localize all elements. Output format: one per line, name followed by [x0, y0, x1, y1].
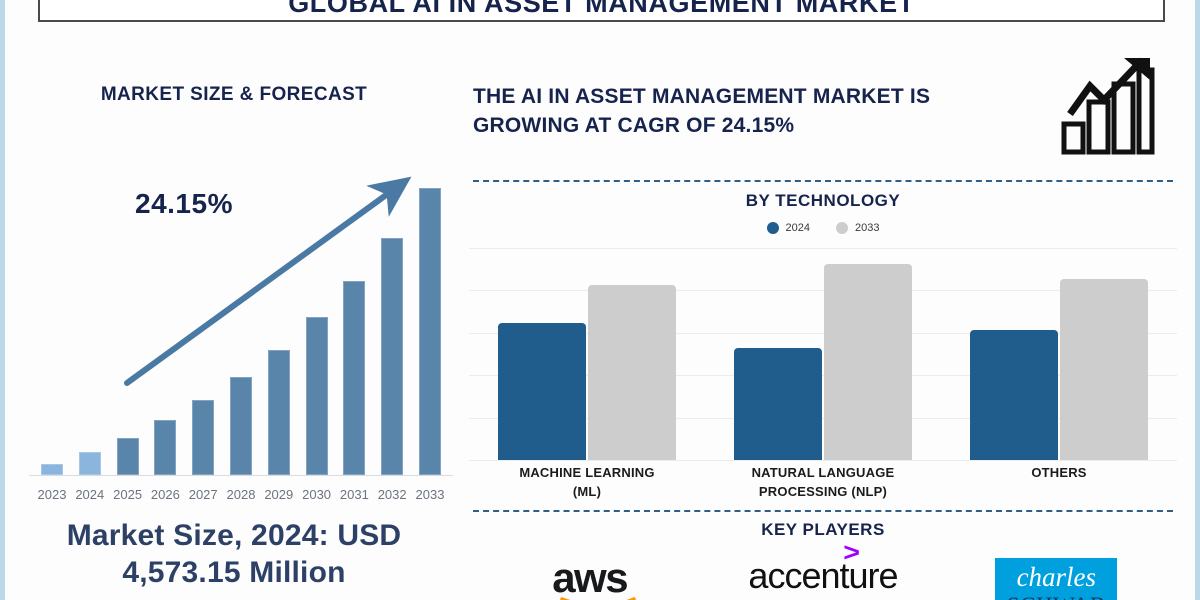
forecast-bar-column: [377, 166, 407, 475]
charles-schwab-logo: charles SCHWAB: [995, 558, 1117, 600]
logo-slot-aws: aws: [490, 548, 690, 600]
technology-category-label: OTHERS: [954, 464, 1164, 502]
forecast-bar: [154, 420, 176, 475]
legend-dot-icon: [836, 222, 848, 234]
forecast-bar-column: [75, 166, 105, 475]
forecast-bar: [117, 438, 139, 475]
technology-bar-2033: [824, 264, 912, 460]
cagr-statement-line-2: GROWING AT CAGR OF 24.15%: [473, 112, 1063, 141]
aws-logo: aws: [552, 558, 627, 598]
right-panel: THE AI IN ASSET MANAGEMENT MARKET IS GRO…: [465, 28, 1200, 600]
accenture-arrow-icon: >: [844, 539, 860, 565]
technology-bar-chart: [469, 248, 1177, 460]
legend-label: 2033: [855, 222, 879, 234]
divider-top: [473, 180, 1173, 182]
technology-category-label-line: NATURAL LANGUAGE: [718, 464, 928, 483]
forecast-bar-column: [188, 166, 218, 475]
forecast-bar: [419, 188, 441, 475]
legend-item-2033[interactable]: 2033: [836, 222, 879, 234]
forecast-year-axis: 2023202420252026202720282029203020312032…: [29, 487, 453, 502]
technology-bars: [469, 248, 1177, 460]
technology-bar-2033: [1060, 279, 1148, 460]
forecast-bar-column: [339, 166, 369, 475]
forecast-year-label: 2026: [150, 487, 180, 502]
divider-bottom: [473, 510, 1173, 512]
cagr-statement-line-1: THE AI IN ASSET MANAGEMENT MARKET IS: [473, 83, 1063, 112]
infographic-root: GLOBAL AI IN ASSET MANAGEMENT MARKET MAR…: [0, 0, 1200, 600]
legend-item-2024[interactable]: 2024: [767, 222, 810, 234]
forecast-bar-chart: 2023202420252026202720282029203020312032…: [29, 158, 453, 518]
forecast-bar-column: [264, 166, 294, 475]
technology-bar-2033: [588, 285, 676, 460]
forecast-year-label: 2025: [113, 487, 143, 502]
forecast-year-label: 2024: [75, 487, 105, 502]
technology-bar-2024: [970, 330, 1058, 460]
forecast-bar: [381, 238, 403, 475]
technology-bar-2024: [498, 323, 586, 460]
forecast-bar-column: [226, 166, 256, 475]
forecast-bar-column: [113, 166, 143, 475]
forecast-bar-column: [415, 166, 445, 475]
forecast-bar: [79, 452, 101, 475]
forecast-year-label: 2027: [188, 487, 218, 502]
by-technology-title: BY TECHNOLOGY: [473, 191, 1173, 211]
technology-category-label: NATURAL LANGUAGEPROCESSING (NLP): [718, 464, 928, 502]
forecast-bar-column: [150, 166, 180, 475]
accenture-logo-text: accenture: [748, 555, 897, 596]
technology-category-labels: MACHINE LEARNING(ML)NATURAL LANGUAGEPROC…: [469, 464, 1177, 502]
forecast-bar-column: [37, 166, 67, 475]
forecast-bar: [230, 377, 252, 475]
market-size-line-2: 4,573.15 Million: [5, 555, 463, 592]
market-size-forecast-panel: MARKET SIZE & FORECAST 24.15% 2023202420…: [5, 28, 463, 600]
forecast-year-label: 2033: [415, 487, 445, 502]
accenture-logo: > accenture: [748, 558, 897, 594]
cagr-statement: THE AI IN ASSET MANAGEMENT MARKET IS GRO…: [473, 83, 1063, 140]
legend-dot-icon: [767, 222, 779, 234]
market-size-value: Market Size, 2024: USD 4,573.15 Million: [5, 518, 463, 591]
key-players-title: KEY PLAYERS: [473, 520, 1173, 540]
bar-chart-growth-icon: [1060, 56, 1155, 156]
forecast-bar: [268, 350, 290, 475]
market-size-forecast-heading: MARKET SIZE & FORECAST: [5, 84, 463, 106]
technology-category-label-line: (ML): [482, 483, 692, 502]
key-players-logos: aws > accenture charles SCHWAB: [473, 548, 1173, 600]
forecast-year-label: 2030: [302, 487, 332, 502]
forecast-bar-column: [302, 166, 332, 475]
technology-bar-2024: [734, 348, 822, 460]
market-size-line-1: Market Size, 2024: USD: [5, 518, 463, 555]
forecast-bar: [41, 464, 63, 475]
schwab-logo-text-top: charles: [1017, 564, 1096, 591]
forecast-year-label: 2023: [37, 487, 67, 502]
technology-category-label: MACHINE LEARNING(ML): [482, 464, 692, 502]
technology-chart-legend: 20242033: [473, 222, 1173, 234]
technology-bar-group: [734, 248, 912, 460]
page-title: GLOBAL AI IN ASSET MANAGEMENT MARKET: [288, 0, 915, 20]
technology-category-label-line: OTHERS: [954, 464, 1164, 483]
technology-category-label-line: PROCESSING (NLP): [718, 483, 928, 502]
gridline: [469, 460, 1177, 461]
forecast-bar: [343, 281, 365, 475]
logo-slot-charles-schwab: charles SCHWAB: [956, 548, 1156, 600]
logo-slot-accenture: > accenture: [723, 548, 923, 600]
legend-label: 2024: [786, 222, 810, 234]
forecast-bars: [29, 166, 453, 476]
technology-bar-group: [970, 248, 1148, 460]
title-box: GLOBAL AI IN ASSET MANAGEMENT MARKET: [38, 0, 1165, 22]
forecast-bar: [192, 400, 214, 475]
aws-logo-text: aws: [552, 554, 627, 600]
technology-category-label-line: MACHINE LEARNING: [482, 464, 692, 483]
technology-bar-group: [498, 248, 676, 460]
schwab-logo-text-bottom: SCHWAB: [1007, 593, 1106, 600]
forecast-year-label: 2031: [339, 487, 369, 502]
forecast-bar: [306, 317, 328, 475]
forecast-year-label: 2028: [226, 487, 256, 502]
forecast-year-label: 2032: [377, 487, 407, 502]
forecast-year-label: 2029: [264, 487, 294, 502]
